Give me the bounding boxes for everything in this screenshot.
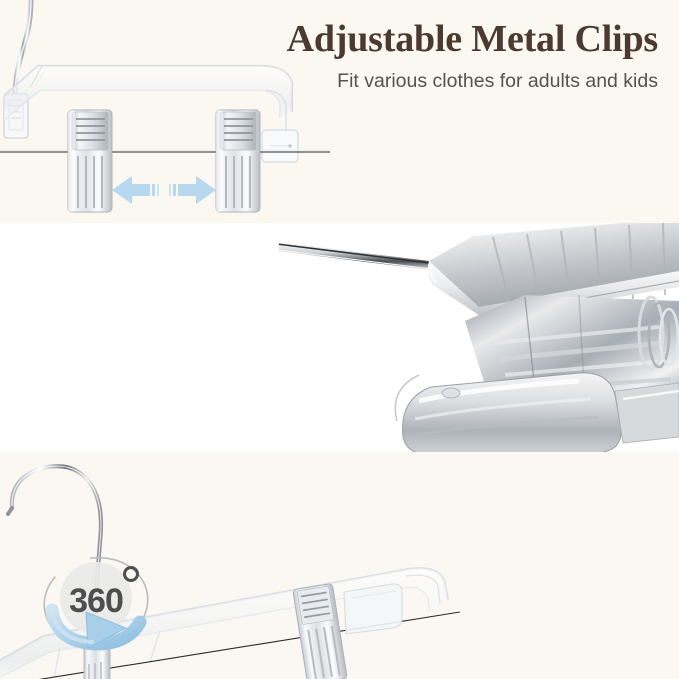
panel-clip-with-rubber-pad: Clip With Rubber Pad No more slipping an… xyxy=(0,223,679,452)
panel-360-swivel-hook: 360 360°Swivel Hook Makesit to hange, ro… xyxy=(0,452,679,679)
degree-symbol-icon xyxy=(125,568,138,581)
rubber-pad-jaw xyxy=(395,373,621,452)
rotation-badge-label: 360 xyxy=(69,582,123,620)
clip-left xyxy=(68,110,112,212)
feature-heading-clips: Adjustable Metal Clips xyxy=(287,16,658,62)
acrylic-hanger-frame xyxy=(0,66,330,162)
feature-text-adjustable-metal-clips: Adjustable Metal Clips Fit various cloth… xyxy=(287,16,658,96)
clip-right xyxy=(216,110,260,212)
arrow-right-icon xyxy=(169,176,216,204)
clip-tail xyxy=(615,383,679,443)
clip-macro-photo-artwork xyxy=(279,223,679,452)
arrow-left-icon xyxy=(112,176,159,204)
product-infographic: Adjustable Metal Clips Fit various cloth… xyxy=(0,0,679,679)
clip-right-angled xyxy=(293,583,402,679)
hanger-with-sliding-clips-artwork xyxy=(0,0,330,223)
panel-adjustable-metal-clips: Adjustable Metal Clips Fit various cloth… xyxy=(0,0,679,223)
hanger-with-swivel-hook-artwork: 360 xyxy=(0,452,460,679)
hanger-bar-edge xyxy=(279,241,431,270)
feature-subtitle-clips: Fit various clothes for adults and kids xyxy=(287,66,658,96)
